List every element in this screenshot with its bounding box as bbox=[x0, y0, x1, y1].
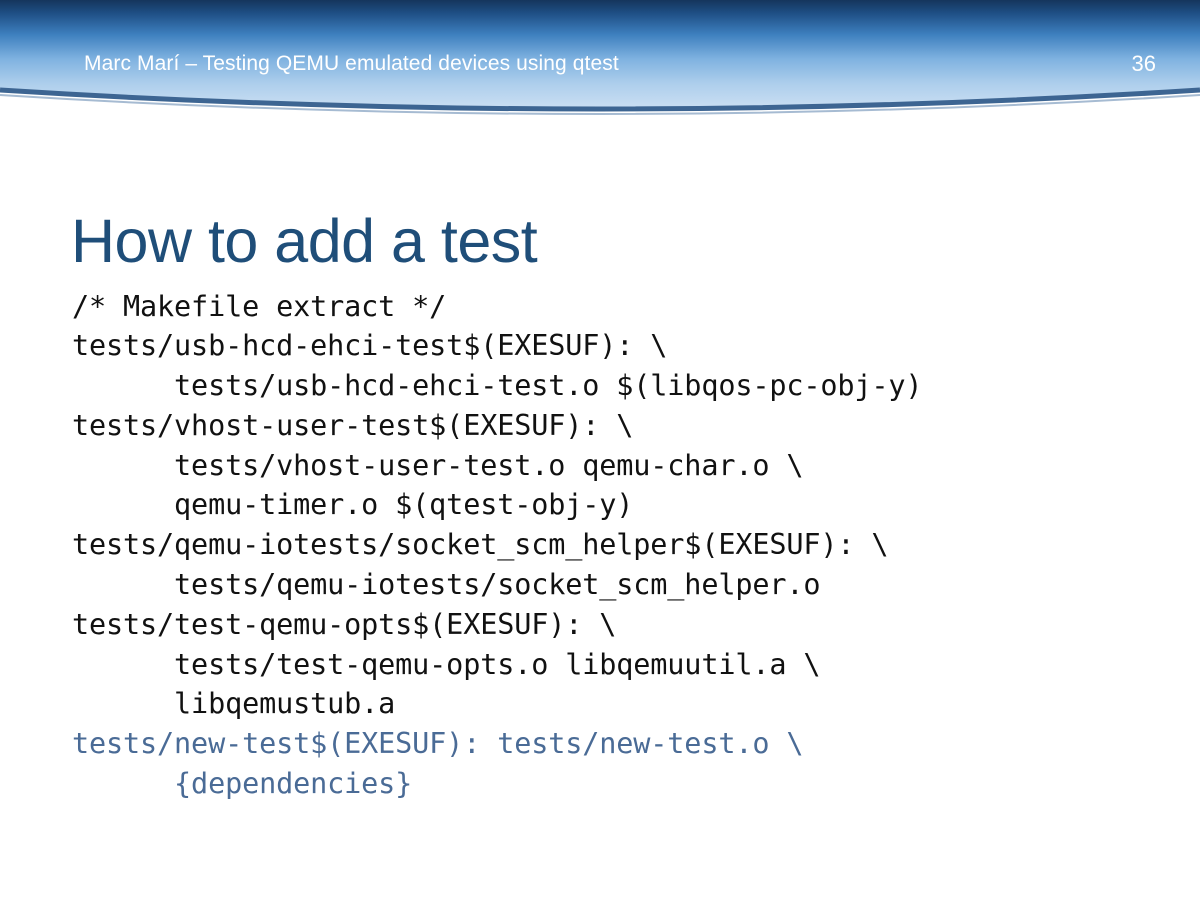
code-line: tests/vhost-user-test$(EXESUF): \ bbox=[72, 406, 1162, 446]
code-line: libqemustub.a bbox=[72, 684, 1162, 724]
code-line: tests/usb-hcd-ehci-test$(EXESUF): \ bbox=[72, 326, 1162, 366]
page-title: How to add a test bbox=[71, 209, 537, 273]
header-banner: Marc Marí – Testing QEMU emulated device… bbox=[0, 0, 1200, 118]
code-line: tests/test-qemu-opts.o libqemuutil.a \ bbox=[72, 645, 1162, 685]
code-line: tests/new-test$(EXESUF): tests/new-test.… bbox=[72, 724, 1162, 764]
slide-canvas: Marc Marí – Testing QEMU emulated device… bbox=[0, 0, 1200, 900]
code-line: tests/qemu-iotests/socket_scm_helper$(EX… bbox=[72, 525, 1162, 565]
slide-number: 36 bbox=[1132, 53, 1156, 75]
code-line: tests/qemu-iotests/socket_scm_helper.o bbox=[72, 565, 1162, 605]
code-line: /* Makefile extract */ bbox=[72, 287, 1162, 327]
header-subtitle: Marc Marí – Testing QEMU emulated device… bbox=[84, 53, 619, 74]
code-line: {dependencies} bbox=[72, 764, 1162, 804]
code-line: tests/test-qemu-opts$(EXESUF): \ bbox=[72, 605, 1162, 645]
code-line: tests/vhost-user-test.o qemu-char.o \ bbox=[72, 446, 1162, 486]
code-line: tests/usb-hcd-ehci-test.o $(libqos-pc-ob… bbox=[72, 366, 1162, 406]
code-block: /* Makefile extract */tests/usb-hcd-ehci… bbox=[72, 287, 1162, 804]
code-line: qemu-timer.o $(qtest-obj-y) bbox=[72, 485, 1162, 525]
